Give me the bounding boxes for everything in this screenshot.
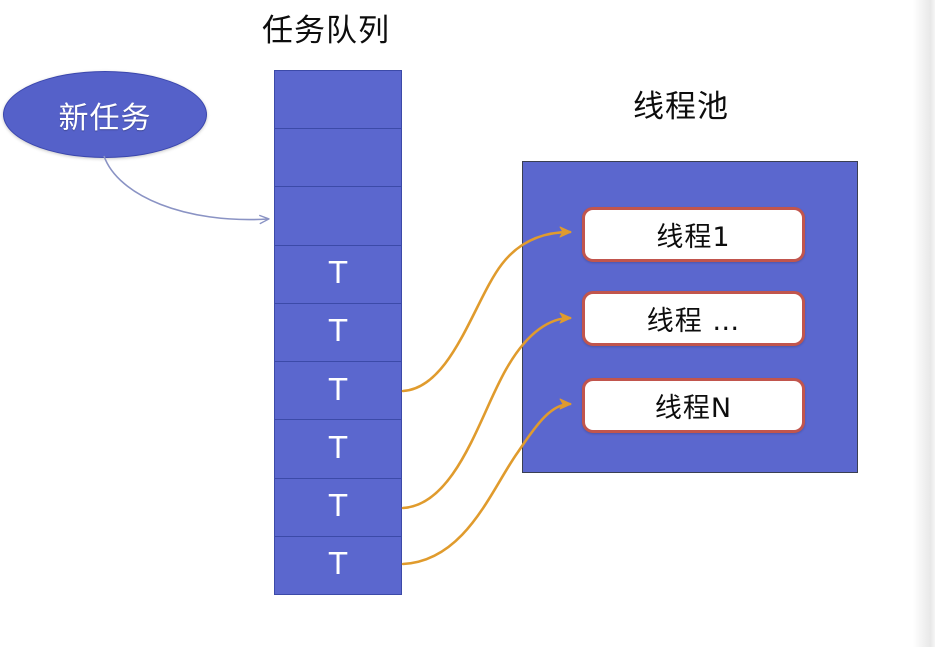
queue-cell: T bbox=[275, 479, 401, 537]
thread-pool-container: 线程1 线程 … 线程N bbox=[522, 161, 858, 473]
queue-cell bbox=[275, 187, 401, 245]
thread-label: 线程N bbox=[655, 386, 732, 425]
submit-task-arrow bbox=[104, 156, 268, 220]
queue-cell bbox=[275, 71, 401, 129]
thread-box: 线程N bbox=[582, 378, 805, 433]
right-edge-shading bbox=[913, 0, 935, 647]
queue-cell bbox=[275, 129, 401, 187]
queue-title: 任务队列 bbox=[262, 14, 390, 48]
queue-cell: T bbox=[275, 304, 401, 362]
new-task-node: 新任务 bbox=[3, 71, 207, 158]
queue-cell: T bbox=[275, 362, 401, 420]
new-task-label: 新任务 bbox=[59, 93, 152, 137]
thread-box: 线程1 bbox=[582, 207, 805, 262]
queue-cell: T bbox=[275, 246, 401, 304]
queue-cell: T bbox=[275, 420, 401, 478]
queue-cell: T bbox=[275, 537, 401, 594]
thread-label: 线程 … bbox=[647, 299, 741, 338]
diagram-canvas: 任务队列 线程池 新任务 T T T T T T 线程1 线程 … 线程N bbox=[0, 0, 935, 647]
task-queue: T T T T T T bbox=[274, 70, 402, 595]
thread-box: 线程 … bbox=[582, 291, 805, 346]
thread-label: 线程1 bbox=[656, 215, 730, 254]
thread-pool-title: 线程池 bbox=[633, 90, 729, 124]
